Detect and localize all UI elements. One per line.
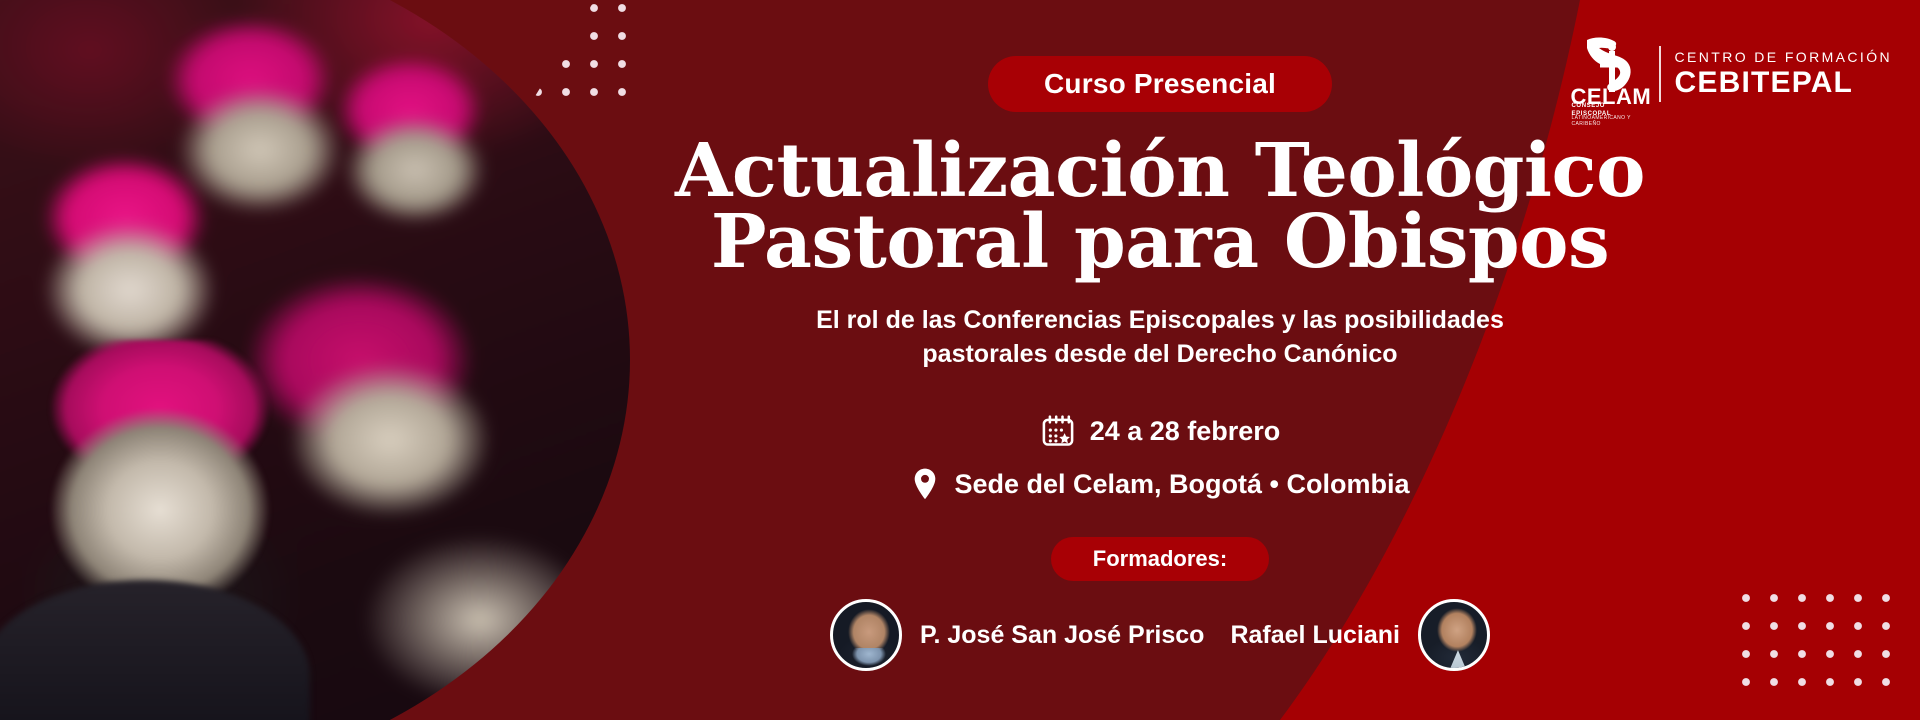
subtitle-line-2: pastorales desde del Derecho Canónico xyxy=(816,338,1504,372)
banner-content: Curso Presencial Actualización Teológico… xyxy=(660,0,1660,720)
event-banner: Curso Presencial Actualización Teológico… xyxy=(0,0,1920,720)
cebitepal-wordmark: CEBITEPAL xyxy=(1675,68,1893,98)
trainers-list: P. José San José Prisco Rafael Luciani xyxy=(830,599,1490,671)
map-pin-icon xyxy=(910,467,940,501)
trainer-item: Rafael Luciani xyxy=(1230,599,1490,671)
celam-logo: CELAM CONSEJO EPISCOPAL LATINOAMERICANO … xyxy=(1571,34,1645,114)
badge-trainers-label: Formadores: xyxy=(1051,537,1269,581)
logo-celam-cebitepal: CELAM CONSEJO EPISCOPAL LATINOAMERICANO … xyxy=(1571,34,1893,114)
subtitle: El rol de las Conferencias Episcopales y… xyxy=(816,304,1504,371)
dot-grid-bottom-icon xyxy=(1732,584,1902,704)
event-location: Sede del Celam, Bogotá • Colombia xyxy=(910,467,1409,501)
event-date-text: 24 a 28 febrero xyxy=(1090,416,1281,447)
trainer-item: P. José San José Prisco xyxy=(830,599,1204,671)
cebitepal-logo: CENTRO DE FORMACIÓN CEBITEPAL xyxy=(1675,50,1893,98)
logo-divider xyxy=(1659,46,1661,102)
event-date: 24 a 28 febrero xyxy=(1040,413,1281,449)
title-line-2: Pastoral para Obispos xyxy=(660,207,1660,278)
trainer-name: P. José San José Prisco xyxy=(920,621,1204,650)
avatar xyxy=(1418,599,1490,671)
title-line-1: Actualización Teológico xyxy=(660,136,1660,207)
calendar-icon xyxy=(1040,413,1076,449)
event-location-text: Sede del Celam, Bogotá • Colombia xyxy=(954,469,1409,500)
trainer-name: Rafael Luciani xyxy=(1230,621,1400,650)
subtitle-line-1: El rol de las Conferencias Episcopales y… xyxy=(816,304,1504,338)
avatar xyxy=(830,599,902,671)
celam-subtitle-line-2: LATINOAMERICANO Y CARIBEÑO xyxy=(1572,115,1645,128)
cebitepal-tagline: CENTRO DE FORMACIÓN xyxy=(1675,50,1893,64)
page-title: Actualización Teológico Pastoral para Ob… xyxy=(660,136,1660,278)
badge-course-type: Curso Presencial xyxy=(988,56,1332,112)
